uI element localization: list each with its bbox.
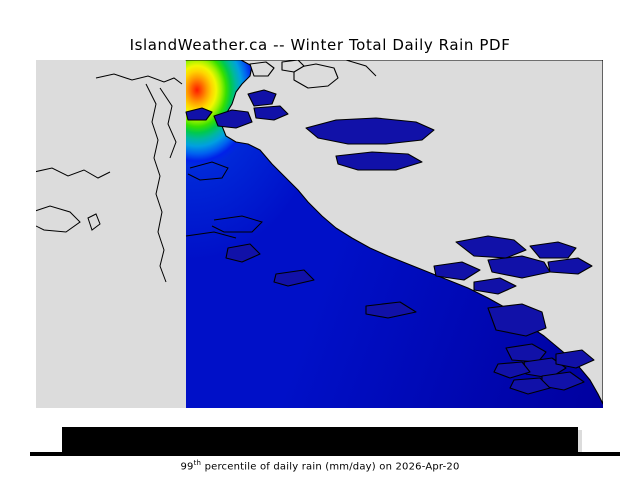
- colorbar-wrapper[interactable]: [62, 427, 578, 452]
- coast-detail-sound: [212, 216, 262, 232]
- coast-detail-barkley: [188, 162, 228, 180]
- coast-detail-island-left-2: [88, 214, 100, 230]
- weather-figure: IslandWeather.ca -- Winter Total Daily R…: [0, 0, 640, 480]
- figure-caption: 99th percentile of daily rain (mm/day) o…: [0, 459, 640, 472]
- coast-detail-island-left: [36, 206, 80, 232]
- coast-detail-north: [96, 74, 182, 84]
- page-title: IslandWeather.ca -- Winter Total Daily R…: [0, 36, 640, 54]
- colorbar-baseline-rule: [30, 452, 620, 456]
- coast-detail-mainland-shore: [36, 168, 110, 178]
- caption-percentile: 99: [180, 461, 193, 472]
- map-inner: [36, 60, 603, 408]
- ocean-inlet-nitinat: [274, 270, 314, 286]
- caption-rest: percentile of daily rain (mm/day) on 202…: [201, 461, 459, 472]
- ocean-strait-f: [186, 108, 212, 120]
- rain-colorbar[interactable]: [62, 427, 578, 452]
- coastline-layer: [36, 60, 603, 408]
- map-panel[interactable]: [36, 60, 603, 408]
- coast-detail-bar: [186, 232, 236, 238]
- coast-detail-inlet-2: [160, 88, 176, 158]
- ocean-strait-d: [248, 90, 276, 106]
- ocean-inlet-cowichan: [366, 302, 416, 318]
- ocean-inlet-alberni: [226, 244, 260, 262]
- coast-detail-inlet-1: [146, 84, 166, 282]
- ocean-victoria-c: [494, 362, 530, 378]
